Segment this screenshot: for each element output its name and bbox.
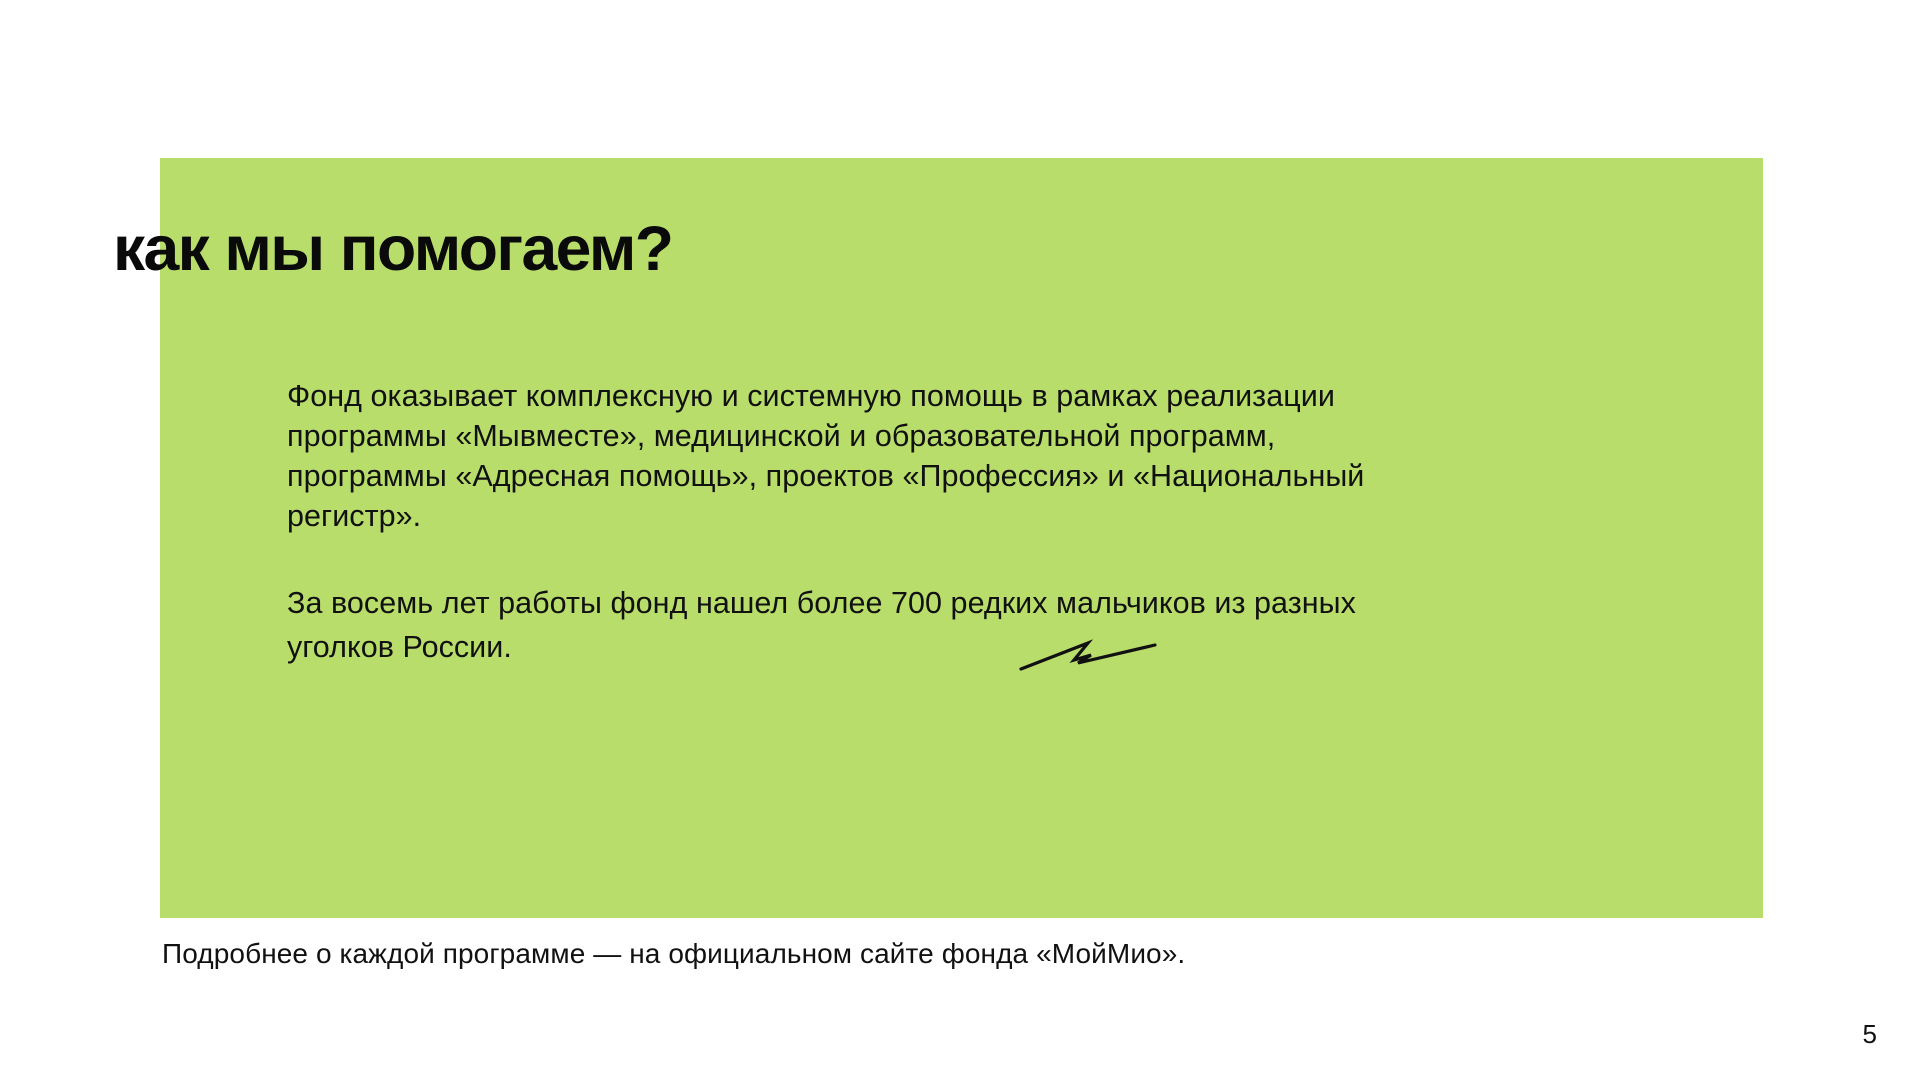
page-number: 5: [1863, 1019, 1877, 1050]
paragraph-spacer: [287, 536, 1707, 581]
paragraph-two-line-1: За восемь лет работы фонд нашел более 70…: [287, 581, 1707, 625]
paragraph-one: Фонд оказывает комплексную и системную п…: [287, 376, 1707, 536]
page-title: как мы помогаем?: [113, 218, 672, 281]
paragraph-one-line-2: программы «Мывместе», медицинской и обра…: [287, 416, 1707, 456]
paragraph-one-line-3: программы «Адресная помощь», проектов «П…: [287, 456, 1707, 496]
paragraph-one-line-1: Фонд оказывает комплексную и системную п…: [287, 376, 1707, 416]
paragraph-two-line-2: уголков России.: [287, 625, 1707, 669]
paragraph-two: За восемь лет работы фонд нашел более 70…: [287, 581, 1707, 669]
footer-caption: Подробнее о каждой программе — на официа…: [162, 938, 1185, 970]
paragraph-one-line-4: регистр».: [287, 496, 1707, 536]
slide-canvas: как мы помогаем? Фонд оказывает комплекс…: [0, 0, 1920, 1080]
body-copy: Фонд оказывает комплексную и системную п…: [287, 376, 1707, 669]
